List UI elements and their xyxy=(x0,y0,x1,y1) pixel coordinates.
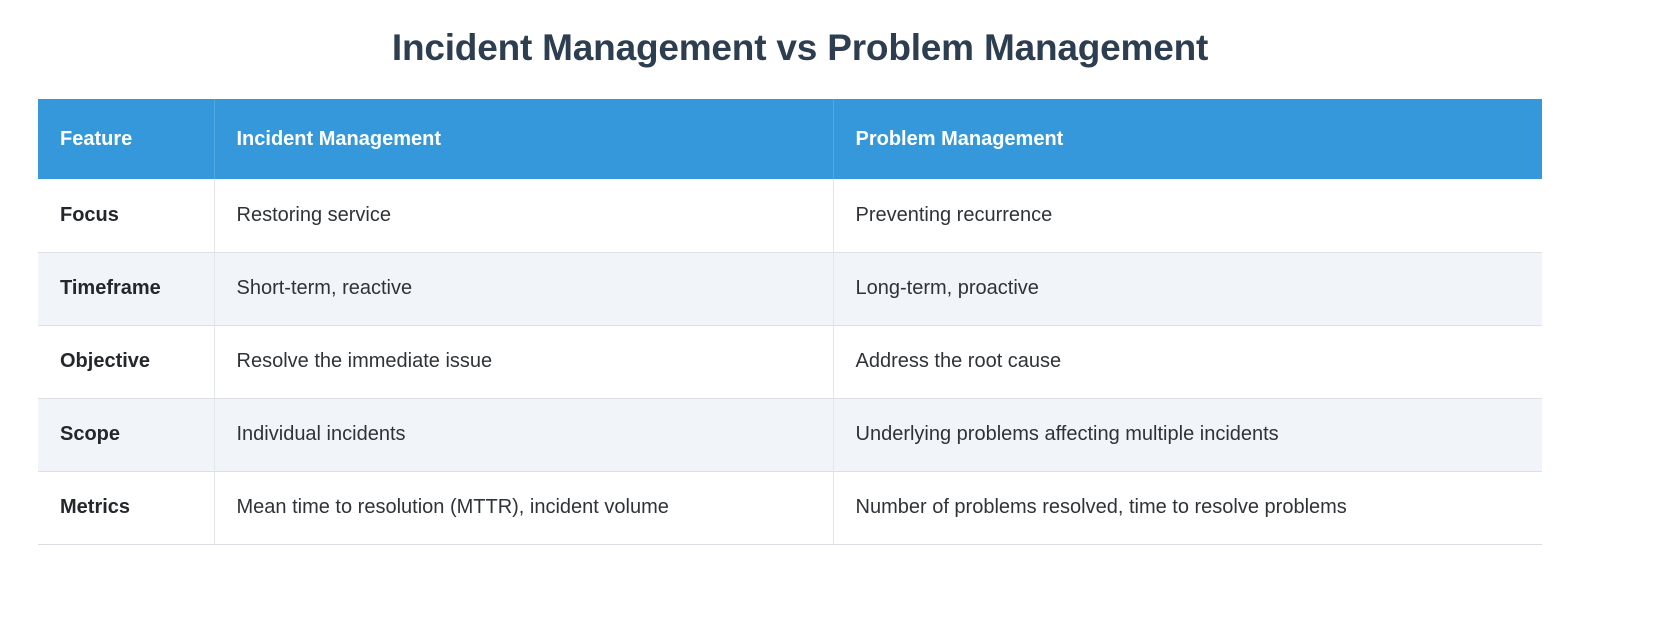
cell-feature: Timeframe xyxy=(38,252,214,325)
cell-feature: Metrics xyxy=(38,471,214,544)
column-header-problem-management[interactable]: Problem Management xyxy=(833,99,1542,179)
cell-feature: Objective xyxy=(38,325,214,398)
cell-incident: Mean time to resolution (MTTR), incident… xyxy=(214,471,833,544)
cell-problem: Preventing recurrence xyxy=(833,179,1542,252)
cell-feature: Scope xyxy=(38,398,214,471)
column-header-feature[interactable]: Feature xyxy=(38,99,214,179)
comparison-table-container: Feature Incident Management Problem Mana… xyxy=(38,99,1542,545)
comparison-table: Feature Incident Management Problem Mana… xyxy=(38,99,1542,545)
cell-incident: Short-term, reactive xyxy=(214,252,833,325)
page-title: Incident Management vs Problem Managemen… xyxy=(0,26,1600,70)
table-row: Timeframe Short-term, reactive Long-term… xyxy=(38,252,1542,325)
table-row: Scope Individual incidents Underlying pr… xyxy=(38,398,1542,471)
table-row: Focus Restoring service Preventing recur… xyxy=(38,179,1542,252)
cell-problem: Address the root cause xyxy=(833,325,1542,398)
column-header-incident-management[interactable]: Incident Management xyxy=(214,99,833,179)
comparison-table-page: Incident Management vs Problem Managemen… xyxy=(0,0,1680,626)
cell-problem: Long-term, proactive xyxy=(833,252,1542,325)
cell-incident: Resolve the immediate issue xyxy=(214,325,833,398)
table-row: Objective Resolve the immediate issue Ad… xyxy=(38,325,1542,398)
cell-incident: Individual incidents xyxy=(214,398,833,471)
cell-incident: Restoring service xyxy=(214,179,833,252)
table-header-row: Feature Incident Management Problem Mana… xyxy=(38,99,1542,179)
table-body: Focus Restoring service Preventing recur… xyxy=(38,179,1542,544)
table-header: Feature Incident Management Problem Mana… xyxy=(38,99,1542,179)
cell-problem: Number of problems resolved, time to res… xyxy=(833,471,1542,544)
cell-feature: Focus xyxy=(38,179,214,252)
cell-problem: Underlying problems affecting multiple i… xyxy=(833,398,1542,471)
table-row: Metrics Mean time to resolution (MTTR), … xyxy=(38,471,1542,544)
